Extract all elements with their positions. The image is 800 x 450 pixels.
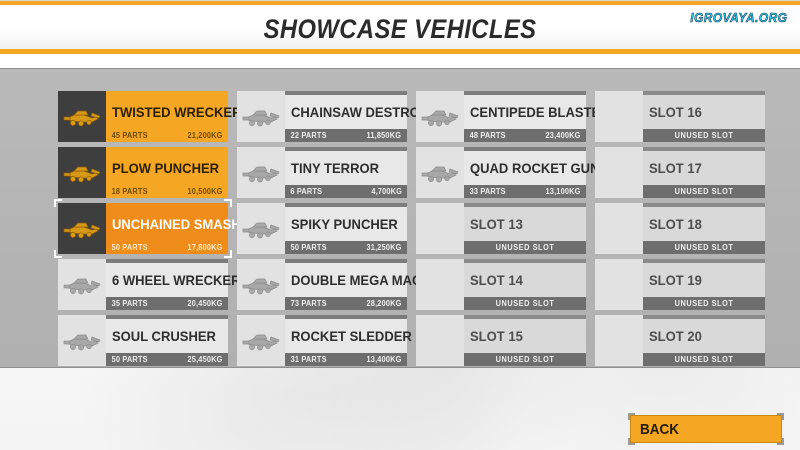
slot-name-label: Centipede Blaster [470, 104, 610, 120]
slot-weight-value: 20,450kg [187, 299, 222, 308]
header-banner: Showcase Vehicles igrovaya.org [0, 0, 800, 54]
slot-name-bar: Slot 18 [643, 203, 765, 241]
slot-stat-bar: UNUSED SLOT [643, 129, 765, 142]
vehicle-slot-card[interactable]: 6 Wheel Wrecker35 PARTS20,450kg [58, 259, 228, 310]
slot-body: 6 Wheel Wrecker35 PARTS20,450kg [106, 259, 228, 310]
empty-slot-icon [416, 203, 464, 254]
vehicle-column-3: Centipede Blaster48 PARTS23,400kgQuad Ro… [416, 91, 586, 366]
slot-body: Chainsaw Destroyer22 PARTS11,850kg [285, 91, 407, 142]
page-title: Showcase Vehicles [48, 14, 752, 45]
empty-slot-card[interactable]: Slot 14UNUSED SLOT [416, 259, 586, 310]
slot-body: Twisted Wrecker45 PARTS21,200kg [106, 91, 228, 142]
vehicle-column-2: Chainsaw Destroyer22 PARTS11,850kgTiny T… [237, 91, 407, 366]
empty-slot-card[interactable]: Slot 13UNUSED SLOT [416, 203, 586, 254]
vehicle-grid: Twisted Wrecker45 PARTS21,200kgPlow Punc… [58, 91, 765, 366]
vehicle-plow-puncher-icon [58, 147, 106, 198]
slot-name-bar: Slot 13 [464, 203, 586, 241]
slot-weight-value: 25,450kg [187, 355, 222, 364]
slot-name-bar: Unchained Smasher [106, 203, 228, 241]
slot-name-bar: Quad Rocket Gunship [464, 147, 586, 185]
vehicle-soul-crusher-icon [58, 315, 106, 366]
slot-name-bar: Slot 15 [464, 315, 586, 353]
slot-parts-count: 18 PARTS [112, 187, 148, 196]
slot-name-label: Slot 20 [649, 328, 702, 344]
slot-body: Tiny Terror6 PARTS4,700kg [285, 147, 407, 198]
slot-body: Centipede Blaster48 PARTS23,400kg [464, 91, 586, 142]
vehicle-slot-card[interactable]: Twisted Wrecker45 PARTS21,200kg [58, 91, 228, 142]
slot-name-bar: Tiny Terror [285, 147, 407, 185]
slot-body: Spiky Puncher50 PARTS31,250kg [285, 203, 407, 254]
slot-parts-count: 45 PARTS [112, 131, 148, 140]
unused-slot-label: UNUSED SLOT [473, 243, 578, 252]
slot-name-bar: Plow Puncher [106, 147, 228, 185]
slot-parts-count: 50 PARTS [112, 355, 148, 364]
empty-slot-card[interactable]: Slot 15UNUSED SLOT [416, 315, 586, 366]
empty-slot-icon [595, 203, 643, 254]
slot-weight-value: 31,250kg [366, 243, 401, 252]
unused-slot-label: UNUSED SLOT [473, 355, 578, 364]
empty-slot-card[interactable]: Slot 17UNUSED SLOT [595, 147, 765, 198]
vehicle-column-1: Twisted Wrecker45 PARTS21,200kgPlow Punc… [58, 91, 228, 366]
vehicle-twisted-wrecker-icon [58, 91, 106, 142]
vehicle-slot-card[interactable]: Centipede Blaster48 PARTS23,400kg [416, 91, 586, 142]
slot-stat-bar: 45 PARTS21,200kg [106, 129, 228, 142]
slot-name-label: 6 Wheel Wrecker [112, 272, 241, 288]
slot-name-label: Slot 18 [649, 216, 702, 232]
slot-name-bar: Double Mega Mace [285, 259, 407, 297]
slot-parts-count: 33 PARTS [470, 187, 506, 196]
back-button-label: Back [640, 421, 679, 438]
slot-body: Slot 15UNUSED SLOT [464, 315, 586, 366]
vehicle-column-4: Slot 16UNUSED SLOTSlot 17UNUSED SLOTSlot… [595, 91, 765, 366]
vehicle-tiny-terror-icon [237, 147, 285, 198]
slot-stat-bar: UNUSED SLOT [464, 297, 586, 310]
slot-parts-count: 50 PARTS [112, 243, 148, 252]
slot-name-bar: Rocket Sledder [285, 315, 407, 353]
slot-name-bar: Slot 16 [643, 91, 765, 129]
slot-body: Slot 14UNUSED SLOT [464, 259, 586, 310]
slot-stat-bar: UNUSED SLOT [464, 241, 586, 254]
slot-stat-bar: UNUSED SLOT [643, 353, 765, 366]
slot-weight-value: 10,500kg [187, 187, 222, 196]
slot-name-label: Plow Puncher [112, 160, 219, 176]
slot-stat-bar: 48 PARTS23,400kg [464, 129, 586, 142]
slot-body: Rocket Sledder31 PARTS13,400kg [285, 315, 407, 366]
back-button[interactable]: Back [630, 415, 782, 443]
slot-weight-value: 13,400kg [366, 355, 401, 364]
slot-body: Double Mega Mace73 PARTS28,200kg [285, 259, 407, 310]
slot-parts-count: 50 PARTS [291, 243, 327, 252]
slot-name-bar: Twisted Wrecker [106, 91, 228, 129]
empty-slot-icon [595, 259, 643, 310]
slot-name-label: Slot 19 [649, 272, 702, 288]
vehicle-slot-card[interactable]: Plow Puncher18 PARTS10,500kg [58, 147, 228, 198]
unused-slot-label: UNUSED SLOT [652, 187, 757, 196]
unused-slot-label: UNUSED SLOT [652, 355, 757, 364]
slot-stat-bar: 31 PARTS13,400kg [285, 353, 407, 366]
slot-name-label: Slot 14 [470, 272, 523, 288]
slot-body: Slot 18UNUSED SLOT [643, 203, 765, 254]
slot-body: Slot 16UNUSED SLOT [643, 91, 765, 142]
slot-parts-count: 73 PARTS [291, 299, 327, 308]
slot-name-label: Twisted Wrecker [112, 104, 241, 120]
slot-body: Plow Puncher18 PARTS10,500kg [106, 147, 228, 198]
slot-name-bar: Slot 19 [643, 259, 765, 297]
slot-stat-bar: 33 PARTS13,100kg [464, 185, 586, 198]
slot-body: Unchained Smasher50 PARTS17,800kg [106, 203, 228, 254]
unused-slot-label: UNUSED SLOT [652, 131, 757, 140]
empty-slot-icon [595, 91, 643, 142]
slot-weight-value: 4,700kg [371, 187, 402, 196]
vehicle-slot-card[interactable]: Spiky Puncher50 PARTS31,250kg [237, 203, 407, 254]
slot-name-bar: Centipede Blaster [464, 91, 586, 129]
vehicle-double-mega-mace-icon [237, 259, 285, 310]
slot-stat-bar: 50 PARTS17,800kg [106, 241, 228, 254]
unused-slot-label: UNUSED SLOT [473, 299, 578, 308]
vehicle-unchained-smasher-icon [58, 203, 106, 254]
slot-parts-count: 35 PARTS [112, 299, 148, 308]
slot-name-label: Double Mega Mace [291, 272, 430, 288]
vehicle-slot-card[interactable]: Chainsaw Destroyer22 PARTS11,850kg [237, 91, 407, 142]
empty-slot-icon [595, 315, 643, 366]
slot-body: Quad Rocket Gunship33 PARTS13,100kg [464, 147, 586, 198]
slot-body: Slot 13UNUSED SLOT [464, 203, 586, 254]
vehicle-slot-card[interactable]: Rocket Sledder31 PARTS13,400kg [237, 315, 407, 366]
vehicle-6-wheel-wrecker-icon [58, 259, 106, 310]
slot-parts-count: 31 PARTS [291, 355, 327, 364]
slot-name-label: Spiky Puncher [291, 216, 398, 232]
slot-stat-bar: 18 PARTS10,500kg [106, 185, 228, 198]
slot-stat-bar: UNUSED SLOT [643, 241, 765, 254]
slot-name-bar: Soul Crusher [106, 315, 228, 353]
slot-body: Slot 17UNUSED SLOT [643, 147, 765, 198]
slot-parts-count: 22 PARTS [291, 131, 327, 140]
slot-name-label: Slot 13 [470, 216, 523, 232]
slot-body: Slot 19UNUSED SLOT [643, 259, 765, 310]
slot-weight-value: 28,200kg [366, 299, 401, 308]
slot-name-label: Slot 15 [470, 328, 523, 344]
empty-slot-icon [416, 315, 464, 366]
vehicle-quad-rocket-gunship-icon [416, 147, 464, 198]
vehicle-chainsaw-destroyer-icon [237, 91, 285, 142]
vehicle-rocket-sledder-icon [237, 315, 285, 366]
slot-weight-value: 11,850kg [367, 131, 402, 140]
slot-name-bar: Spiky Puncher [285, 203, 407, 241]
slot-name-label: Soul Crusher [112, 328, 216, 344]
vehicle-slot-card[interactable]: Unchained Smasher50 PARTS17,800kg [58, 203, 228, 254]
empty-slot-card[interactable]: Slot 20UNUSED SLOT [595, 315, 765, 366]
slot-name-bar: Chainsaw Destroyer [285, 91, 407, 129]
empty-slot-icon [416, 259, 464, 310]
slot-stat-bar: 73 PARTS28,200kg [285, 297, 407, 310]
slot-stat-bar: UNUSED SLOT [643, 297, 765, 310]
slot-body: Slot 20UNUSED SLOT [643, 315, 765, 366]
empty-slot-card[interactable]: Slot 16UNUSED SLOT [595, 91, 765, 142]
vehicle-slot-card[interactable]: Double Mega Mace73 PARTS28,200kg [237, 259, 407, 310]
slot-stat-bar: UNUSED SLOT [643, 185, 765, 198]
slot-stat-bar: 50 PARTS31,250kg [285, 241, 407, 254]
slot-weight-value: 17,800kg [187, 243, 222, 252]
vehicle-slot-card[interactable]: Soul Crusher50 PARTS25,450kg [58, 315, 228, 366]
unused-slot-label: UNUSED SLOT [652, 299, 757, 308]
slot-name-bar: 6 Wheel Wrecker [106, 259, 228, 297]
slot-weight-value: 21,200kg [187, 131, 222, 140]
slot-name-bar: Slot 17 [643, 147, 765, 185]
slot-stat-bar: UNUSED SLOT [464, 353, 586, 366]
slot-name-bar: Slot 14 [464, 259, 586, 297]
vehicle-centipede-blaster-icon [416, 91, 464, 142]
showcase-vehicles-screen: Showcase Vehicles igrovaya.org Twisted W… [0, 0, 800, 450]
vehicle-list-panel: Twisted Wrecker45 PARTS21,200kgPlow Punc… [0, 68, 800, 368]
slot-name-label: Slot 16 [649, 104, 702, 120]
slot-stat-bar: 50 PARTS25,450kg [106, 353, 228, 366]
slot-parts-count: 48 PARTS [470, 131, 506, 140]
unused-slot-label: UNUSED SLOT [652, 243, 757, 252]
slot-name-label: Tiny Terror [291, 160, 379, 176]
slot-weight-value: 13,100kg [545, 187, 580, 196]
slot-parts-count: 6 PARTS [290, 187, 322, 196]
vehicle-slot-card[interactable]: Tiny Terror6 PARTS4,700kg [237, 147, 407, 198]
slot-name-label: Slot 17 [649, 160, 702, 176]
empty-slot-card[interactable]: Slot 18UNUSED SLOT [595, 203, 765, 254]
site-watermark: igrovaya.org [691, 10, 788, 25]
slot-stat-bar: 22 PARTS11,850kg [285, 129, 407, 142]
slot-name-bar: Slot 20 [643, 315, 765, 353]
vehicle-slot-card[interactable]: Quad Rocket Gunship33 PARTS13,100kg [416, 147, 586, 198]
slot-stat-bar: 35 PARTS20,450kg [106, 297, 228, 310]
slot-body: Soul Crusher50 PARTS25,450kg [106, 315, 228, 366]
slot-name-label: Rocket Sledder [291, 328, 412, 344]
empty-slot-card[interactable]: Slot 19UNUSED SLOT [595, 259, 765, 310]
slot-weight-value: 23,400kg [545, 131, 580, 140]
vehicle-spiky-puncher-icon [237, 203, 285, 254]
empty-slot-icon [595, 147, 643, 198]
slot-stat-bar: 6 PARTS4,700kg [285, 185, 407, 198]
